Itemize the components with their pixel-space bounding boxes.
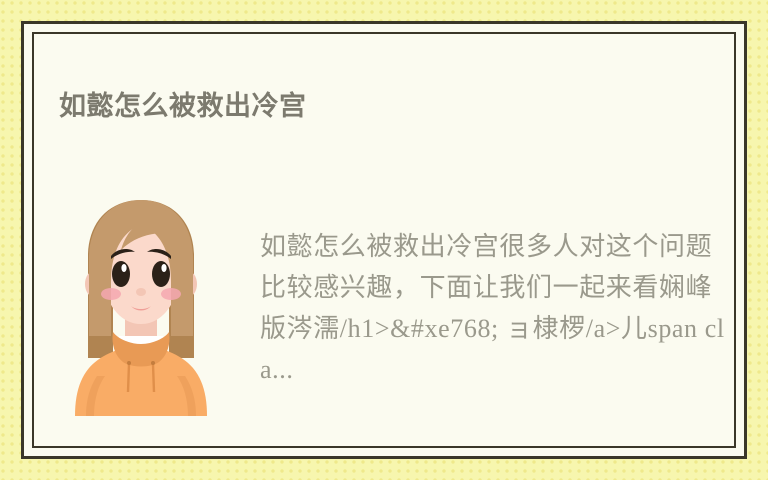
blush-left-shape — [101, 288, 121, 300]
eye-left-highlight-shape — [121, 264, 126, 272]
decorative-inner-frame: 如懿怎么被救出冷宫 — [32, 32, 736, 448]
page-title: 如懿怎么被救出冷宫 — [59, 89, 307, 123]
article-body-text: 如懿怎么被救出冷宫很多人对这个问题比较感兴趣，下面让我们一起来看娴峰版涔濡/h1… — [260, 226, 726, 390]
poster-canvas: 如懿怎么被救出冷宫 — [0, 0, 768, 480]
eye-right-shape — [152, 261, 170, 287]
nose-shape — [136, 288, 146, 296]
article-card: 如懿怎么被救出冷宫 — [34, 34, 734, 446]
eye-right-highlight-shape — [161, 264, 166, 272]
drawstring-right-shape — [153, 364, 154, 392]
decorative-frame-gap: 如懿怎么被救出冷宫 — [27, 27, 741, 453]
decorative-outer-frame: 如懿怎么被救出冷宫 — [21, 21, 747, 459]
blush-right-shape — [161, 288, 181, 300]
drawstring-left-shape — [128, 364, 129, 392]
drawstring-eyelet-left-shape — [127, 361, 131, 365]
girl-avatar-illustration — [61, 186, 221, 416]
drawstring-eyelet-right-shape — [151, 361, 155, 365]
eye-left-shape — [112, 261, 130, 287]
